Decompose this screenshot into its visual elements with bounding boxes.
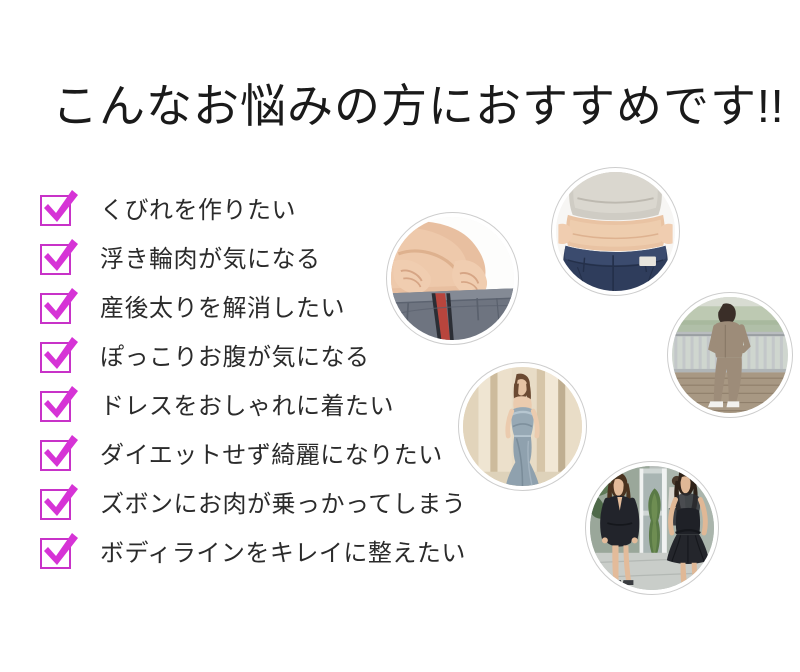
checkbox-checked: [40, 440, 71, 471]
checkbox-checked: [40, 293, 71, 324]
promo-banner: こんなお悩みの方におすすめです!! くびれを作りたい 浮き輪肉が気になる: [0, 0, 800, 672]
list-item-label: ドレスをおしゃれに着たい: [100, 392, 394, 422]
checkbox-checked: [40, 538, 71, 569]
checkbox-checked: [40, 342, 71, 373]
checkbox-checked: [40, 391, 71, 422]
photo-image: [391, 217, 514, 340]
check-mark-icon: [38, 284, 82, 328]
list-item-label: くびれを作りたい: [100, 196, 296, 226]
checkbox-checked: [40, 195, 71, 226]
check-mark-icon: [38, 480, 82, 524]
page-title: こんなお悩みの方におすすめです!!: [52, 78, 785, 134]
photo-woman-evening-gown: [458, 362, 587, 491]
list-item: ズボンにお肉が乗っかってしまう: [40, 480, 460, 529]
photo-two-women-black-dresses: [585, 461, 719, 595]
list-item-label: ダイエットせず綺麗になりたい: [100, 441, 443, 471]
check-mark-icon: [38, 529, 82, 573]
list-item-label: 産後太りを解消したい: [100, 294, 345, 324]
list-item-label: ボディラインをキレイに整えたい: [100, 539, 466, 569]
photo-image: [590, 466, 714, 590]
photo-image: [556, 172, 675, 291]
list-item: くびれを作りたい: [40, 186, 460, 235]
photo-muffin-top-over-jeans: [551, 167, 680, 296]
photo-image: [672, 297, 788, 413]
check-mark-icon: [38, 333, 82, 377]
list-item: ぽっこりお腹が気になる: [40, 333, 460, 382]
checkbox-checked: [40, 244, 71, 275]
list-item: ダイエットせず綺麗になりたい: [40, 431, 460, 480]
photo-image: [463, 367, 582, 486]
check-mark-icon: [38, 431, 82, 475]
photo-pinch-belly-over-jeans: [386, 212, 519, 345]
photo-woman-tracksuit-boardwalk: [667, 292, 793, 418]
check-mark-icon: [38, 186, 82, 230]
list-item-label: 浮き輪肉が気になる: [100, 245, 321, 275]
check-mark-icon: [38, 235, 82, 279]
list-item-label: ズボンにお肉が乗っかってしまう: [100, 490, 466, 520]
list-item-label: ぽっこりお腹が気になる: [100, 343, 370, 373]
checkbox-checked: [40, 489, 71, 520]
check-mark-icon: [38, 382, 82, 426]
list-item: ドレスをおしゃれに着たい: [40, 382, 460, 431]
list-item: ボディラインをキレイに整えたい: [40, 529, 460, 578]
